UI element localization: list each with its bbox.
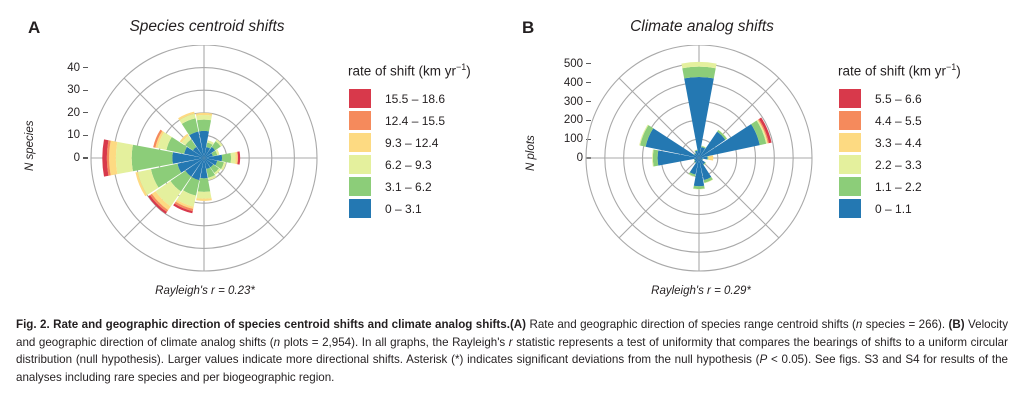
panel-a-legend-swatch-icon [348,154,372,175]
panel-a-tick-label: 40 [67,62,80,74]
panel-a-rose-segment [197,191,212,198]
panel-b-letter: B [522,18,534,38]
panel-a-legend-label: 9.3 – 12.4 [385,136,438,150]
panel-b-rose-chart [575,45,820,285]
panel-b-legend-label: 3.3 – 4.4 [875,136,922,150]
legend-title-exponent-b: −1 [946,62,956,72]
panel-b-legend-swatch-icon [838,154,862,175]
panel-b-legend-item[interactable]: 5.5 – 6.6 [838,88,961,110]
panel-a-rose-segment [197,120,211,132]
caption-a-text: Rate and geographic direction of species… [526,318,856,331]
panel-b-legend-swatch-icon [838,132,862,153]
panel-b-legend-label: 2.2 – 3.3 [875,158,922,172]
panel-b-legend-item[interactable]: 4.4 – 5.5 [838,110,961,132]
panel-b-rose-sectors [639,62,771,190]
panel-a-legend-swatch-icon [348,198,372,219]
caption-n-plots-text: plots = 2,954). In all graphs, the Rayle… [280,336,509,349]
caption-a-tag: (A) [510,318,526,331]
panel-a-legend-item[interactable]: 9.3 – 12.4 [348,132,471,154]
panel-a: A Species centroid shifts N species 4030… [0,0,511,310]
panel-b-legend-label: 4.4 – 5.5 [875,114,922,128]
panel-a-rose-segment [116,142,133,174]
panel-b-legend-swatch-icon [838,88,862,109]
panel-a-legend-item[interactable]: 3.1 – 6.2 [348,176,471,198]
panel-a-legend-label: 12.4 – 15.5 [385,114,445,128]
panel-a-tick-label: 30 [67,84,80,96]
panel-b-legend-item[interactable]: 0 – 1.1 [838,198,961,220]
panel-b-rose-segment [708,155,713,160]
panel-b-legend-label: 0 – 1.1 [875,202,912,216]
panel-b-title: Climate analog shifts [577,18,827,36]
panel-a-tick-label: 20 [67,107,80,119]
panel-b-legend-swatch-icon [838,110,862,131]
legend-title-close-b: ) [956,64,961,79]
panel-a-legend-rows: 15.5 – 18.612.4 – 15.59.3 – 12.46.2 – 9.… [348,88,471,220]
panel-b: B Climate analog shifts N plots 50040030… [511,0,1022,310]
panel-b-legend-title: rate of shift (km yr−1) [838,62,961,79]
panel-a-rose-segment [196,115,212,120]
panel-a-legend-swatch-icon [348,88,372,109]
panel-b-rose-segment [653,150,658,167]
caption-lead: Fig. 2. Rate and geographic direction of… [16,318,510,331]
figure-caption: Fig. 2. Rate and geographic direction of… [16,316,1008,386]
panel-a-rayleigh-stat: Rayleigh's r = 0.23* [85,285,325,297]
panel-b-legend: rate of shift (km yr−1) 5.5 – 6.64.4 – 5… [838,62,961,220]
caption-b-tag: (B) [949,318,965,331]
panel-a-legend-swatch-icon [348,176,372,197]
panel-a-legend-label: 6.2 – 9.3 [385,158,432,172]
panel-a-title: Species centroid shifts [82,18,332,36]
legend-title-close-a: ) [466,64,471,79]
panel-a-legend-label: 3.1 – 6.2 [385,180,432,194]
panel-a-letter: A [28,18,40,38]
panel-a-legend-item[interactable]: 0 – 3.1 [348,198,471,220]
legend-title-text-a: rate of shift (km yr [348,64,456,79]
caption-n-species-text: species = 266). [862,318,948,331]
panel-a-rose-chart [80,45,325,285]
panel-a-legend-swatch-icon [348,110,372,131]
panel-a-rose-segment [231,152,236,164]
panel-b-legend-swatch-icon [838,176,862,197]
panel-a-legend-label: 0 – 3.1 [385,202,422,216]
panel-b-rose-segment [693,186,704,189]
panel-b-legend-item[interactable]: 2.2 – 3.3 [838,154,961,176]
panel-b-axis-title: N plots [525,135,537,171]
panel-a-legend-item[interactable]: 15.5 – 18.6 [348,88,471,110]
panel-a-legend: rate of shift (km yr−1) 15.5 – 18.612.4 … [348,62,471,220]
panel-b-rose-segment [707,156,708,159]
panel-b-legend-rows: 5.5 – 6.64.4 – 5.53.3 – 4.42.2 – 3.31.1 … [838,88,961,220]
panel-b-rose-segment [682,67,715,79]
figure-root: A Species centroid shifts N species 4030… [0,0,1022,412]
panel-a-legend-title: rate of shift (km yr−1) [348,62,471,79]
panel-b-legend-label: 1.1 – 2.2 [875,180,922,194]
panel-a-axis-title: N species [24,121,36,172]
panel-b-legend-swatch-icon [838,198,862,219]
legend-title-exponent-a: −1 [456,62,466,72]
panel-b-legend-item[interactable]: 1.1 – 2.2 [838,176,961,198]
panel-a-radial-axis: N species 403020100 [18,45,88,175]
panel-b-legend-label: 5.5 – 6.6 [875,92,922,106]
panel-a-legend-item[interactable]: 12.4 – 15.5 [348,110,471,132]
legend-title-text-b: rate of shift (km yr [838,64,946,79]
panel-b-rayleigh-stat: Rayleigh's r = 0.29* [581,285,821,297]
panel-b-legend-item[interactable]: 3.3 – 4.4 [838,132,961,154]
panel-a-legend-label: 15.5 – 18.6 [385,92,445,106]
panel-a-rose-segment [222,153,231,163]
panel-a-legend-item[interactable]: 6.2 – 9.3 [348,154,471,176]
panel-a-legend-swatch-icon [348,132,372,153]
panel-a-tick-label: 10 [67,129,80,141]
